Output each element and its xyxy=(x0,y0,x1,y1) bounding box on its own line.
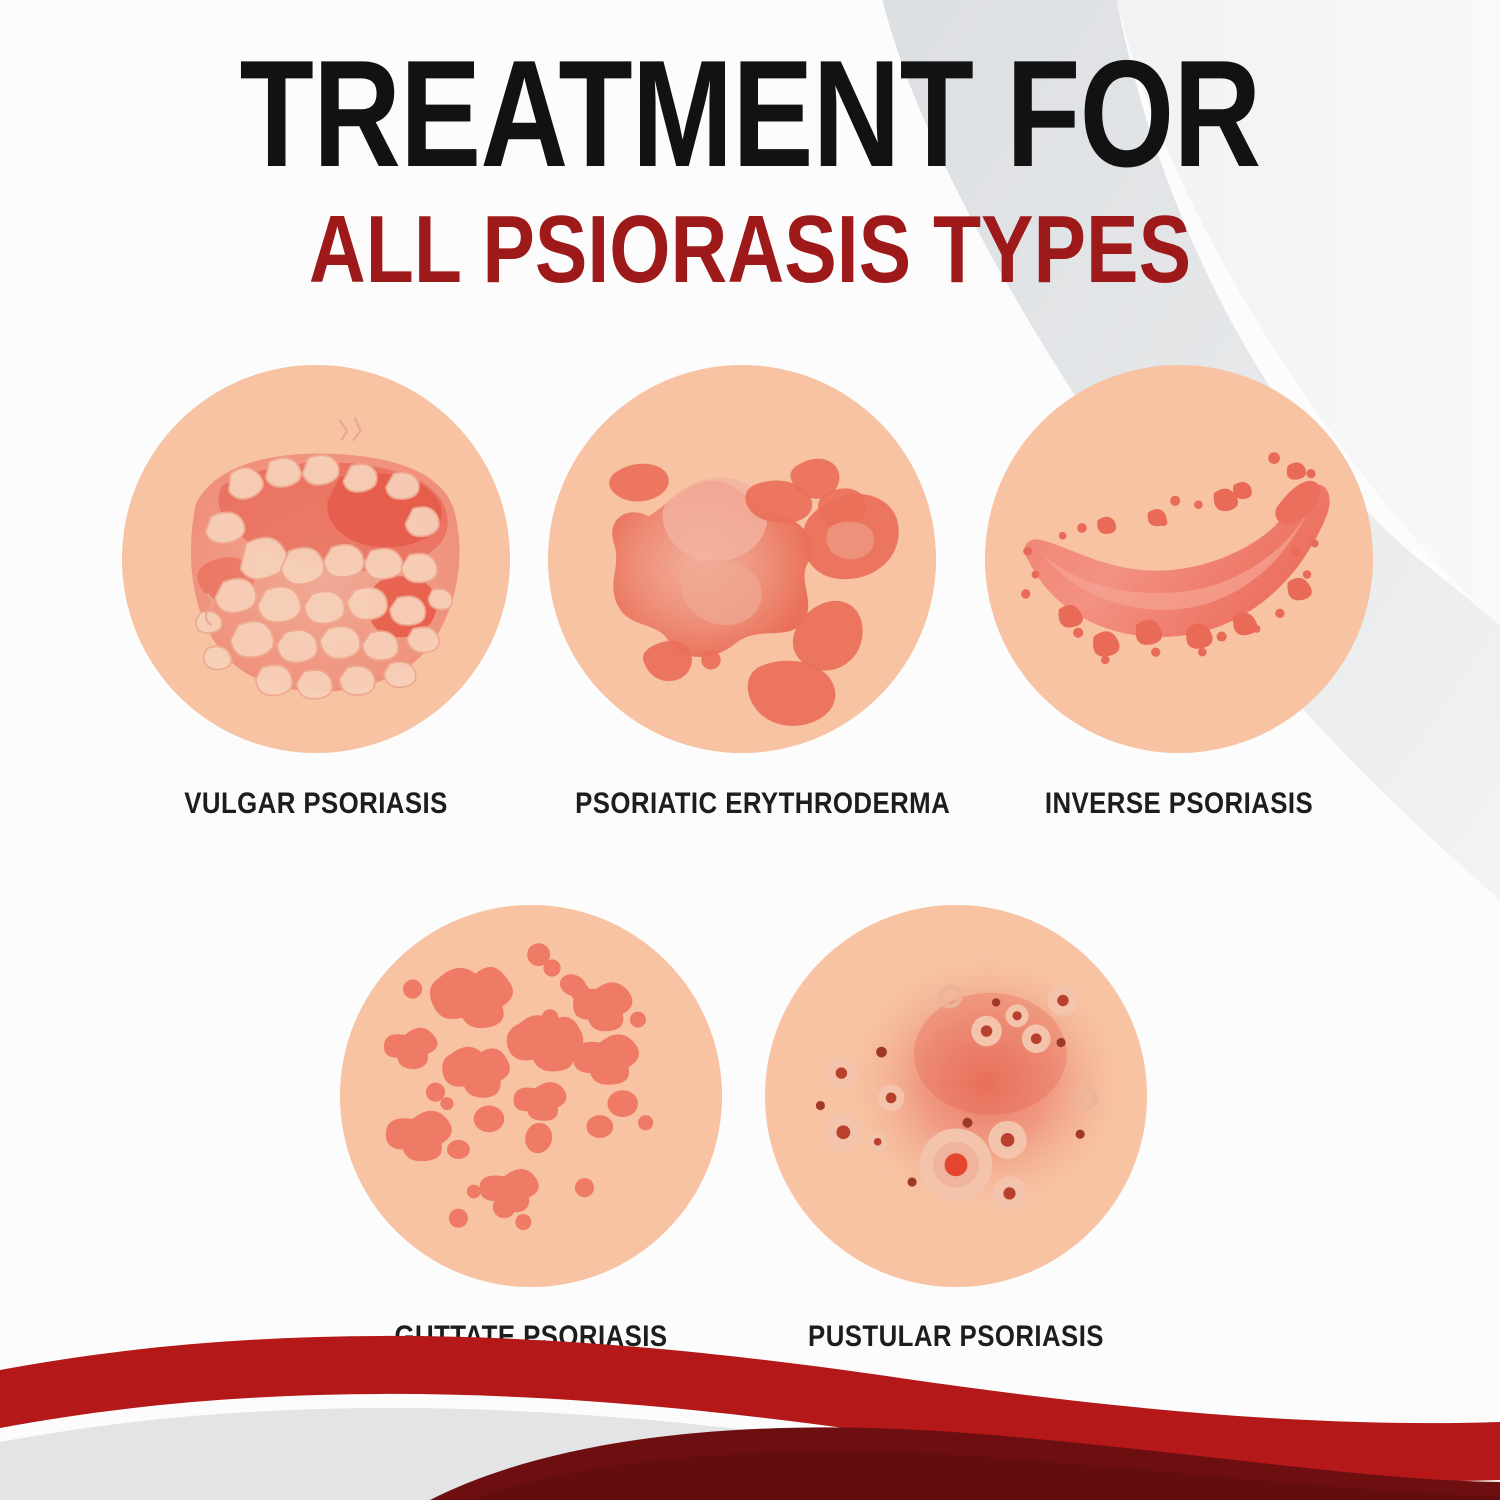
type-card-erythroderma[interactable]: PSORIATIC ERYTHRODERMA xyxy=(548,365,936,835)
type-card-vulgar[interactable]: VULGAR PSORIASIS xyxy=(122,365,510,835)
type-card-pustular[interactable]: PUSTULAR PSORIASIS xyxy=(765,905,1147,1375)
skin-fold-streak-icon xyxy=(985,365,1373,753)
pustule-rings-icon xyxy=(765,905,1147,1287)
page-subtitle: ALL PSIORASIS TYPES xyxy=(135,186,1365,298)
type-card-inverse[interactable]: INVERSE PSORIASIS xyxy=(985,365,1373,835)
page-title: TREATMENT FOR xyxy=(150,0,1350,186)
type-card-guttate[interactable]: GUTTATE PSORIASIS xyxy=(340,905,722,1375)
plaque-cluster-icon xyxy=(122,365,510,753)
scattered-droplets-icon xyxy=(340,905,722,1287)
caption-vulgar: VULGAR PSORIASIS xyxy=(149,787,483,821)
large-blotch-icon xyxy=(548,365,936,753)
caption-inverse: INVERSE PSORIASIS xyxy=(1012,787,1346,821)
footer-wave-decoration xyxy=(0,1330,1500,1500)
poster-canvas: TREATMENT FOR ALL PSIORASIS TYPES xyxy=(0,0,1500,1500)
caption-erythroderma: PSORIATIC ERYTHRODERMA xyxy=(575,787,909,821)
header-block: TREATMENT FOR ALL PSIORASIS TYPES xyxy=(0,0,1500,298)
